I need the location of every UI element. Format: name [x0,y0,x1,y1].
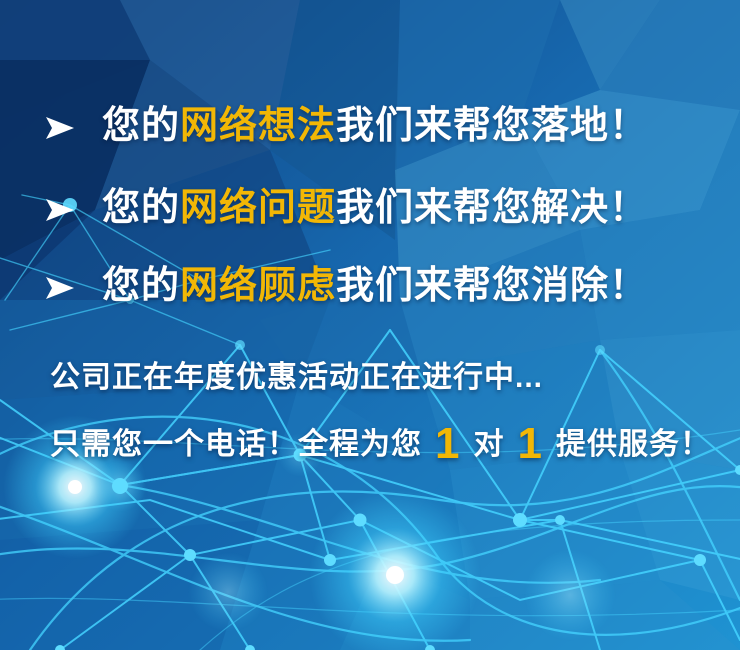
subline-1: 公司正在年度优惠活动正在进行中... [50,363,543,393]
service-number-1: 1 [431,419,464,468]
headline-suffix-3: 我们来帮您消除！ [336,265,648,307]
headline-text-2: 您的网络问题我们来帮您解决！ [102,189,648,227]
headline-highlight-2: 网络问题 [180,187,336,229]
headline-prefix-3: 您的 [102,265,180,307]
headline-row-1: 您的网络想法我们来帮您落地！ [40,106,648,146]
subline-1-text: 公司正在年度优惠活动正在进行中... [50,361,543,394]
subline-2-lead: 只需您一个电话！全程为您 [50,428,422,461]
headline-suffix-1: 我们来帮您落地！ [336,105,648,147]
subline-2-mid: 对 [473,428,504,461]
arrow-right-icon [40,108,80,148]
service-number-2: 1 [513,419,546,468]
headline-text-1: 您的网络想法我们来帮您落地！ [102,107,648,145]
headline-row-3: 您的网络顾虑我们来帮您消除！ [40,266,648,306]
headline-highlight-3: 网络顾虑 [180,265,336,307]
subline-2: 只需您一个电话！全程为您1对1提供服务！ [50,430,711,460]
banner-copy: 您的网络想法我们来帮您落地！ 您的网络问题我们来帮您解决！ 您的网络顾虑我们 [0,0,740,650]
promo-banner: 您的网络想法我们来帮您落地！ 您的网络问题我们来帮您解决！ 您的网络顾虑我们 [0,0,740,650]
arrow-right-icon [40,268,80,308]
headline-row-2: 您的网络问题我们来帮您解决！ [40,188,648,228]
headline-prefix-1: 您的 [102,105,180,147]
subline-2-tail: 提供服务！ [556,428,711,461]
headline-text-3: 您的网络顾虑我们来帮您消除！ [102,267,648,305]
headline-suffix-2: 我们来帮您解决！ [336,187,648,229]
headline-highlight-1: 网络想法 [180,105,336,147]
arrow-right-icon [40,190,80,230]
headline-prefix-2: 您的 [102,187,180,229]
